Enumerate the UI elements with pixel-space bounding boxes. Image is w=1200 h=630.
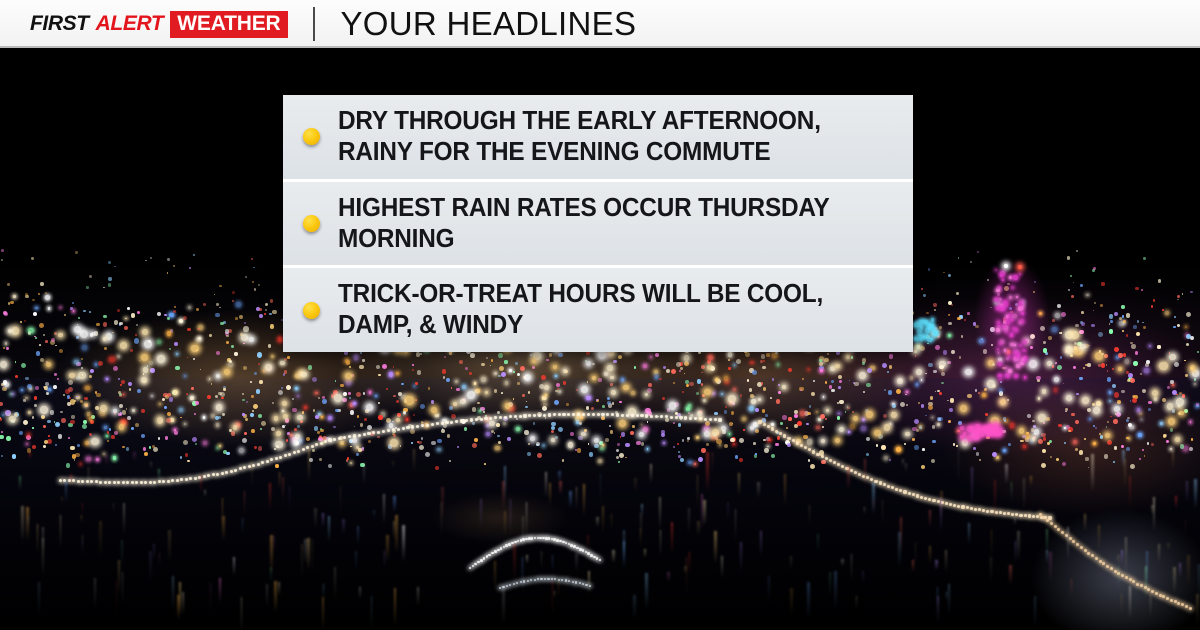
water-reflection	[384, 551, 385, 569]
city-light	[353, 402, 356, 405]
water-reflection	[37, 524, 39, 554]
city-light	[486, 357, 488, 359]
city-light	[167, 258, 169, 260]
bridge-light	[122, 481, 125, 484]
water-reflection	[359, 587, 361, 600]
city-light	[839, 400, 844, 405]
water-reflection	[1129, 586, 1131, 620]
city-light	[1023, 445, 1026, 448]
city-light	[396, 372, 399, 375]
city-light	[906, 391, 908, 393]
city-light	[1052, 327, 1056, 331]
city-light	[613, 360, 616, 363]
water-reflection	[403, 526, 405, 550]
city-light	[553, 365, 557, 369]
city-light	[688, 404, 690, 406]
water-reflection	[554, 591, 556, 599]
city-light	[961, 335, 964, 338]
city-light	[444, 356, 446, 358]
water-reflection	[935, 560, 938, 570]
water-reflection	[244, 491, 246, 517]
city-light	[939, 361, 945, 367]
city-light	[1040, 326, 1045, 331]
water-reflection	[847, 466, 849, 490]
city-light	[1015, 303, 1018, 306]
water-reflection	[558, 471, 560, 481]
city-light	[420, 404, 425, 409]
water-reflection	[357, 526, 359, 545]
city-light	[1081, 311, 1084, 314]
city-light	[1183, 446, 1187, 450]
bridge-light	[1106, 565, 1109, 568]
bridge-light	[854, 471, 857, 474]
bridge-light	[1050, 522, 1053, 525]
city-light	[739, 458, 743, 462]
city-light	[259, 380, 263, 384]
city-light	[60, 411, 63, 414]
water-reflection	[575, 553, 578, 572]
city-light	[411, 442, 412, 443]
city-light	[988, 430, 992, 434]
city-light	[120, 342, 127, 349]
headline-row: TRICK-OR-TREAT HOURS WILL BE COOL, DAMP,…	[283, 265, 913, 352]
city-light	[1121, 445, 1124, 448]
city-light	[68, 380, 73, 385]
city-light	[499, 366, 504, 371]
headline-text: HIGHEST RAIN RATES OCCUR THURSDAY MORNIN…	[338, 193, 870, 255]
city-light	[665, 418, 669, 422]
water-reflection	[441, 487, 444, 520]
city-light	[1073, 282, 1074, 283]
bridge-light	[194, 477, 197, 480]
city-light	[930, 396, 933, 399]
water-reflection	[210, 583, 211, 614]
city-light	[1085, 457, 1088, 460]
bridge-light	[1166, 597, 1169, 600]
bridge-light	[59, 479, 62, 482]
city-light	[1109, 314, 1113, 318]
water-reflection	[1049, 552, 1052, 583]
city-light	[1170, 380, 1173, 383]
city-light	[106, 435, 108, 437]
city-light	[905, 432, 909, 436]
city-light	[107, 431, 109, 433]
city-light	[740, 394, 743, 397]
city-light	[1126, 447, 1130, 451]
bridge-light	[1024, 514, 1027, 517]
city-light	[185, 453, 188, 456]
bridge-light	[792, 439, 795, 442]
city-light	[701, 383, 703, 385]
water-reflection	[394, 588, 396, 627]
city-light	[410, 429, 415, 434]
city-light	[428, 387, 431, 390]
city-light	[313, 409, 315, 411]
city-light	[81, 367, 83, 369]
bridge-light	[234, 469, 237, 472]
city-light	[890, 423, 892, 425]
city-light	[308, 365, 312, 369]
water-reflection	[873, 501, 874, 511]
city-light	[610, 383, 612, 385]
city-light	[259, 308, 262, 311]
city-light	[530, 354, 532, 356]
city-light	[1079, 330, 1084, 335]
city-light	[735, 455, 739, 459]
city-light	[513, 371, 515, 373]
city-light	[1130, 464, 1135, 469]
city-light	[935, 345, 940, 350]
city-light	[650, 356, 652, 358]
city-light	[275, 464, 279, 468]
water-reflection	[26, 507, 29, 541]
city-light	[283, 373, 285, 375]
city-light	[1043, 341, 1046, 344]
city-light	[900, 402, 905, 407]
water-reflection	[686, 557, 688, 596]
city-light	[524, 430, 528, 434]
water-reflection	[545, 472, 547, 498]
bridge-light	[363, 433, 366, 436]
water-reflection	[583, 484, 585, 517]
bridge-light	[572, 581, 574, 583]
city-light	[666, 369, 670, 373]
bridge-light	[176, 479, 179, 482]
city-light	[1157, 345, 1160, 348]
city-light	[1128, 423, 1132, 427]
city-light	[920, 346, 925, 351]
bridge-light	[1039, 513, 1042, 516]
city-light	[1004, 367, 1006, 369]
city-light	[918, 402, 920, 404]
water-reflection	[1046, 550, 1048, 564]
water-reflection	[21, 506, 24, 542]
city-light	[54, 373, 56, 375]
water-reflection	[701, 494, 704, 532]
water-reflection	[289, 486, 290, 515]
city-light	[1018, 306, 1023, 311]
water-reflection	[1150, 594, 1151, 617]
water-reflection	[242, 518, 243, 534]
bridge-light	[1054, 525, 1057, 528]
city-light	[47, 420, 50, 423]
city-light	[1009, 296, 1011, 298]
city-light	[1118, 353, 1123, 358]
city-light	[703, 399, 706, 402]
city-light	[398, 392, 402, 396]
city-light	[136, 324, 138, 326]
water-reflection	[200, 475, 203, 495]
city-light	[1084, 438, 1086, 440]
city-light	[32, 445, 36, 449]
water-reflection	[1129, 476, 1130, 508]
city-light	[10, 301, 14, 305]
city-light	[297, 415, 302, 420]
city-light	[5, 410, 10, 415]
city-light	[191, 345, 198, 352]
city-light	[728, 352, 733, 357]
city-light	[806, 423, 808, 425]
city-light	[1, 431, 3, 433]
city-light	[95, 406, 99, 410]
water-reflection	[994, 480, 996, 520]
water-reflection	[82, 535, 83, 546]
city-light	[216, 374, 220, 378]
city-light	[96, 458, 99, 461]
bridge-light	[903, 490, 906, 493]
city-light	[417, 370, 422, 375]
bridge-light	[675, 416, 678, 419]
city-light	[169, 397, 173, 401]
city-light	[1071, 295, 1074, 298]
city-light	[319, 458, 322, 461]
city-light	[991, 344, 993, 346]
water-reflection	[219, 578, 221, 603]
city-light	[265, 364, 271, 370]
water-reflection	[558, 579, 559, 599]
bridge-light	[266, 460, 269, 463]
city-light	[850, 424, 855, 429]
city-light	[999, 378, 1001, 380]
city-light	[45, 382, 49, 386]
bridge-light	[445, 421, 448, 424]
city-light	[96, 323, 100, 327]
water-reflection	[1194, 479, 1197, 508]
water-reflection	[790, 588, 792, 617]
water-reflection	[634, 478, 637, 492]
city-light	[1182, 394, 1186, 398]
city-light	[1147, 442, 1149, 444]
city-light	[563, 381, 567, 385]
water-reflection	[1158, 544, 1160, 564]
city-light	[498, 441, 501, 444]
bridge-light	[597, 413, 600, 416]
bridge-light	[1189, 607, 1192, 610]
city-light	[807, 439, 812, 444]
city-light	[295, 387, 298, 390]
city-light	[187, 460, 189, 462]
city-light	[1176, 398, 1184, 406]
city-light	[157, 340, 161, 344]
city-light	[264, 313, 266, 315]
city-light	[367, 425, 372, 430]
city-light	[1011, 286, 1014, 289]
city-light	[916, 383, 919, 386]
city-light	[378, 374, 380, 376]
water-reflection	[946, 592, 947, 600]
city-light	[1026, 432, 1029, 435]
city-light	[715, 378, 719, 382]
city-light	[745, 352, 750, 357]
city-light	[281, 387, 283, 389]
city-light	[957, 317, 961, 321]
city-light	[1101, 363, 1105, 367]
water-reflection	[900, 517, 902, 553]
water-reflection	[640, 513, 642, 539]
city-light	[459, 360, 463, 364]
page-title: YOUR HEADLINES	[341, 7, 637, 41]
city-light	[1075, 448, 1078, 451]
city-light	[973, 447, 975, 449]
city-light	[794, 410, 798, 414]
water-reflection	[355, 551, 358, 569]
water-reflection	[712, 452, 713, 473]
city-light	[663, 442, 665, 444]
water-reflection	[480, 499, 482, 527]
water-reflection	[413, 449, 415, 472]
city-light	[9, 416, 15, 422]
city-light	[821, 460, 825, 464]
city-light	[598, 351, 606, 359]
city-light	[914, 445, 919, 450]
city-light	[414, 385, 415, 386]
city-light	[990, 327, 995, 332]
city-light	[1190, 291, 1192, 293]
bridge-light	[534, 579, 536, 581]
city-light	[1136, 332, 1140, 336]
city-light	[143, 367, 148, 372]
city-light	[376, 365, 380, 369]
city-light	[158, 437, 161, 440]
water-reflection	[1030, 476, 1032, 486]
water-reflection	[623, 530, 625, 564]
bridge-light	[548, 413, 551, 416]
city-light	[998, 358, 1002, 362]
bridge-light	[1099, 560, 1102, 563]
bridge-light	[640, 414, 643, 417]
city-light	[1004, 420, 1006, 422]
city-light	[917, 329, 922, 334]
water-reflection	[301, 544, 304, 578]
water-reflection	[864, 459, 867, 489]
city-light	[70, 420, 74, 424]
city-light	[142, 329, 148, 335]
city-light	[287, 432, 290, 435]
city-light	[292, 398, 294, 400]
city-light	[1065, 411, 1067, 413]
city-light	[1047, 361, 1052, 366]
water-reflection	[42, 538, 43, 577]
city-light	[175, 366, 180, 371]
city-light	[544, 385, 549, 390]
city-light	[788, 368, 792, 372]
city-light	[1151, 443, 1154, 446]
city-light	[71, 415, 74, 418]
city-light	[996, 428, 1002, 434]
water-reflection	[1173, 567, 1176, 593]
city-light	[356, 392, 361, 397]
water-reflection	[1071, 579, 1072, 598]
water-reflection	[70, 474, 72, 485]
city-light	[542, 406, 547, 411]
city-light	[1075, 324, 1078, 327]
city-light	[1109, 391, 1111, 393]
city-light	[1014, 328, 1018, 332]
city-light	[1089, 418, 1091, 420]
bridge-light	[158, 480, 161, 483]
city-light	[265, 303, 268, 306]
city-light	[68, 437, 70, 439]
city-light	[106, 333, 113, 340]
bridge-light	[850, 469, 853, 472]
city-light	[1143, 326, 1146, 329]
water-reflection	[645, 573, 647, 609]
city-light	[807, 412, 810, 415]
bridge-light	[284, 454, 287, 457]
bridge-light	[230, 470, 233, 473]
city-light	[314, 426, 319, 431]
water-reflection	[371, 596, 372, 630]
city-light	[58, 434, 63, 439]
city-light	[941, 372, 945, 376]
city-light	[359, 365, 363, 369]
headlines-panel: DRY THROUGH THE EARLY AFTERNOON, RAINY F…	[283, 95, 913, 352]
city-light	[3, 380, 7, 384]
water-reflection	[314, 508, 316, 529]
city-light	[763, 439, 765, 441]
water-reflection	[851, 554, 852, 582]
water-reflection	[513, 544, 515, 581]
bridge-light	[185, 478, 188, 481]
water-reflection	[392, 461, 393, 467]
city-light	[596, 399, 598, 401]
city-light	[174, 431, 178, 435]
water-reflection	[971, 467, 973, 507]
city-light	[505, 403, 510, 408]
city-light	[278, 337, 283, 342]
city-light	[839, 427, 844, 432]
city-light	[956, 292, 959, 295]
bridge-light	[1155, 592, 1158, 595]
city-light	[348, 392, 351, 395]
bridge-light	[1028, 514, 1031, 517]
city-light	[260, 428, 262, 430]
city-light	[794, 414, 798, 418]
water-reflection	[703, 500, 705, 526]
city-light	[86, 286, 89, 289]
city-light	[1107, 377, 1111, 381]
city-light	[533, 422, 535, 424]
city-light	[728, 359, 730, 361]
city-light	[80, 400, 83, 403]
city-light	[1052, 365, 1055, 368]
city-light	[934, 332, 938, 336]
city-light	[1091, 324, 1094, 327]
city-light	[276, 431, 280, 435]
city-light	[167, 272, 169, 274]
water-reflection	[123, 503, 125, 535]
city-light	[839, 380, 842, 383]
water-reflection	[82, 503, 84, 514]
city-light	[1041, 463, 1046, 468]
water-reflection	[552, 555, 553, 573]
city-light	[392, 421, 394, 423]
water-reflection	[1014, 518, 1016, 525]
city-light	[1096, 401, 1101, 406]
city-light	[1052, 319, 1055, 322]
bridge-light	[426, 424, 429, 427]
city-light	[70, 446, 75, 451]
city-light	[545, 394, 547, 396]
water-reflection	[706, 452, 709, 492]
city-light	[1061, 332, 1063, 334]
water-reflection	[373, 510, 375, 517]
city-light	[415, 399, 417, 401]
logo-word-first: FIRST	[30, 11, 89, 37]
city-light	[0, 402, 3, 406]
city-light	[483, 411, 484, 412]
city-light	[616, 449, 619, 452]
